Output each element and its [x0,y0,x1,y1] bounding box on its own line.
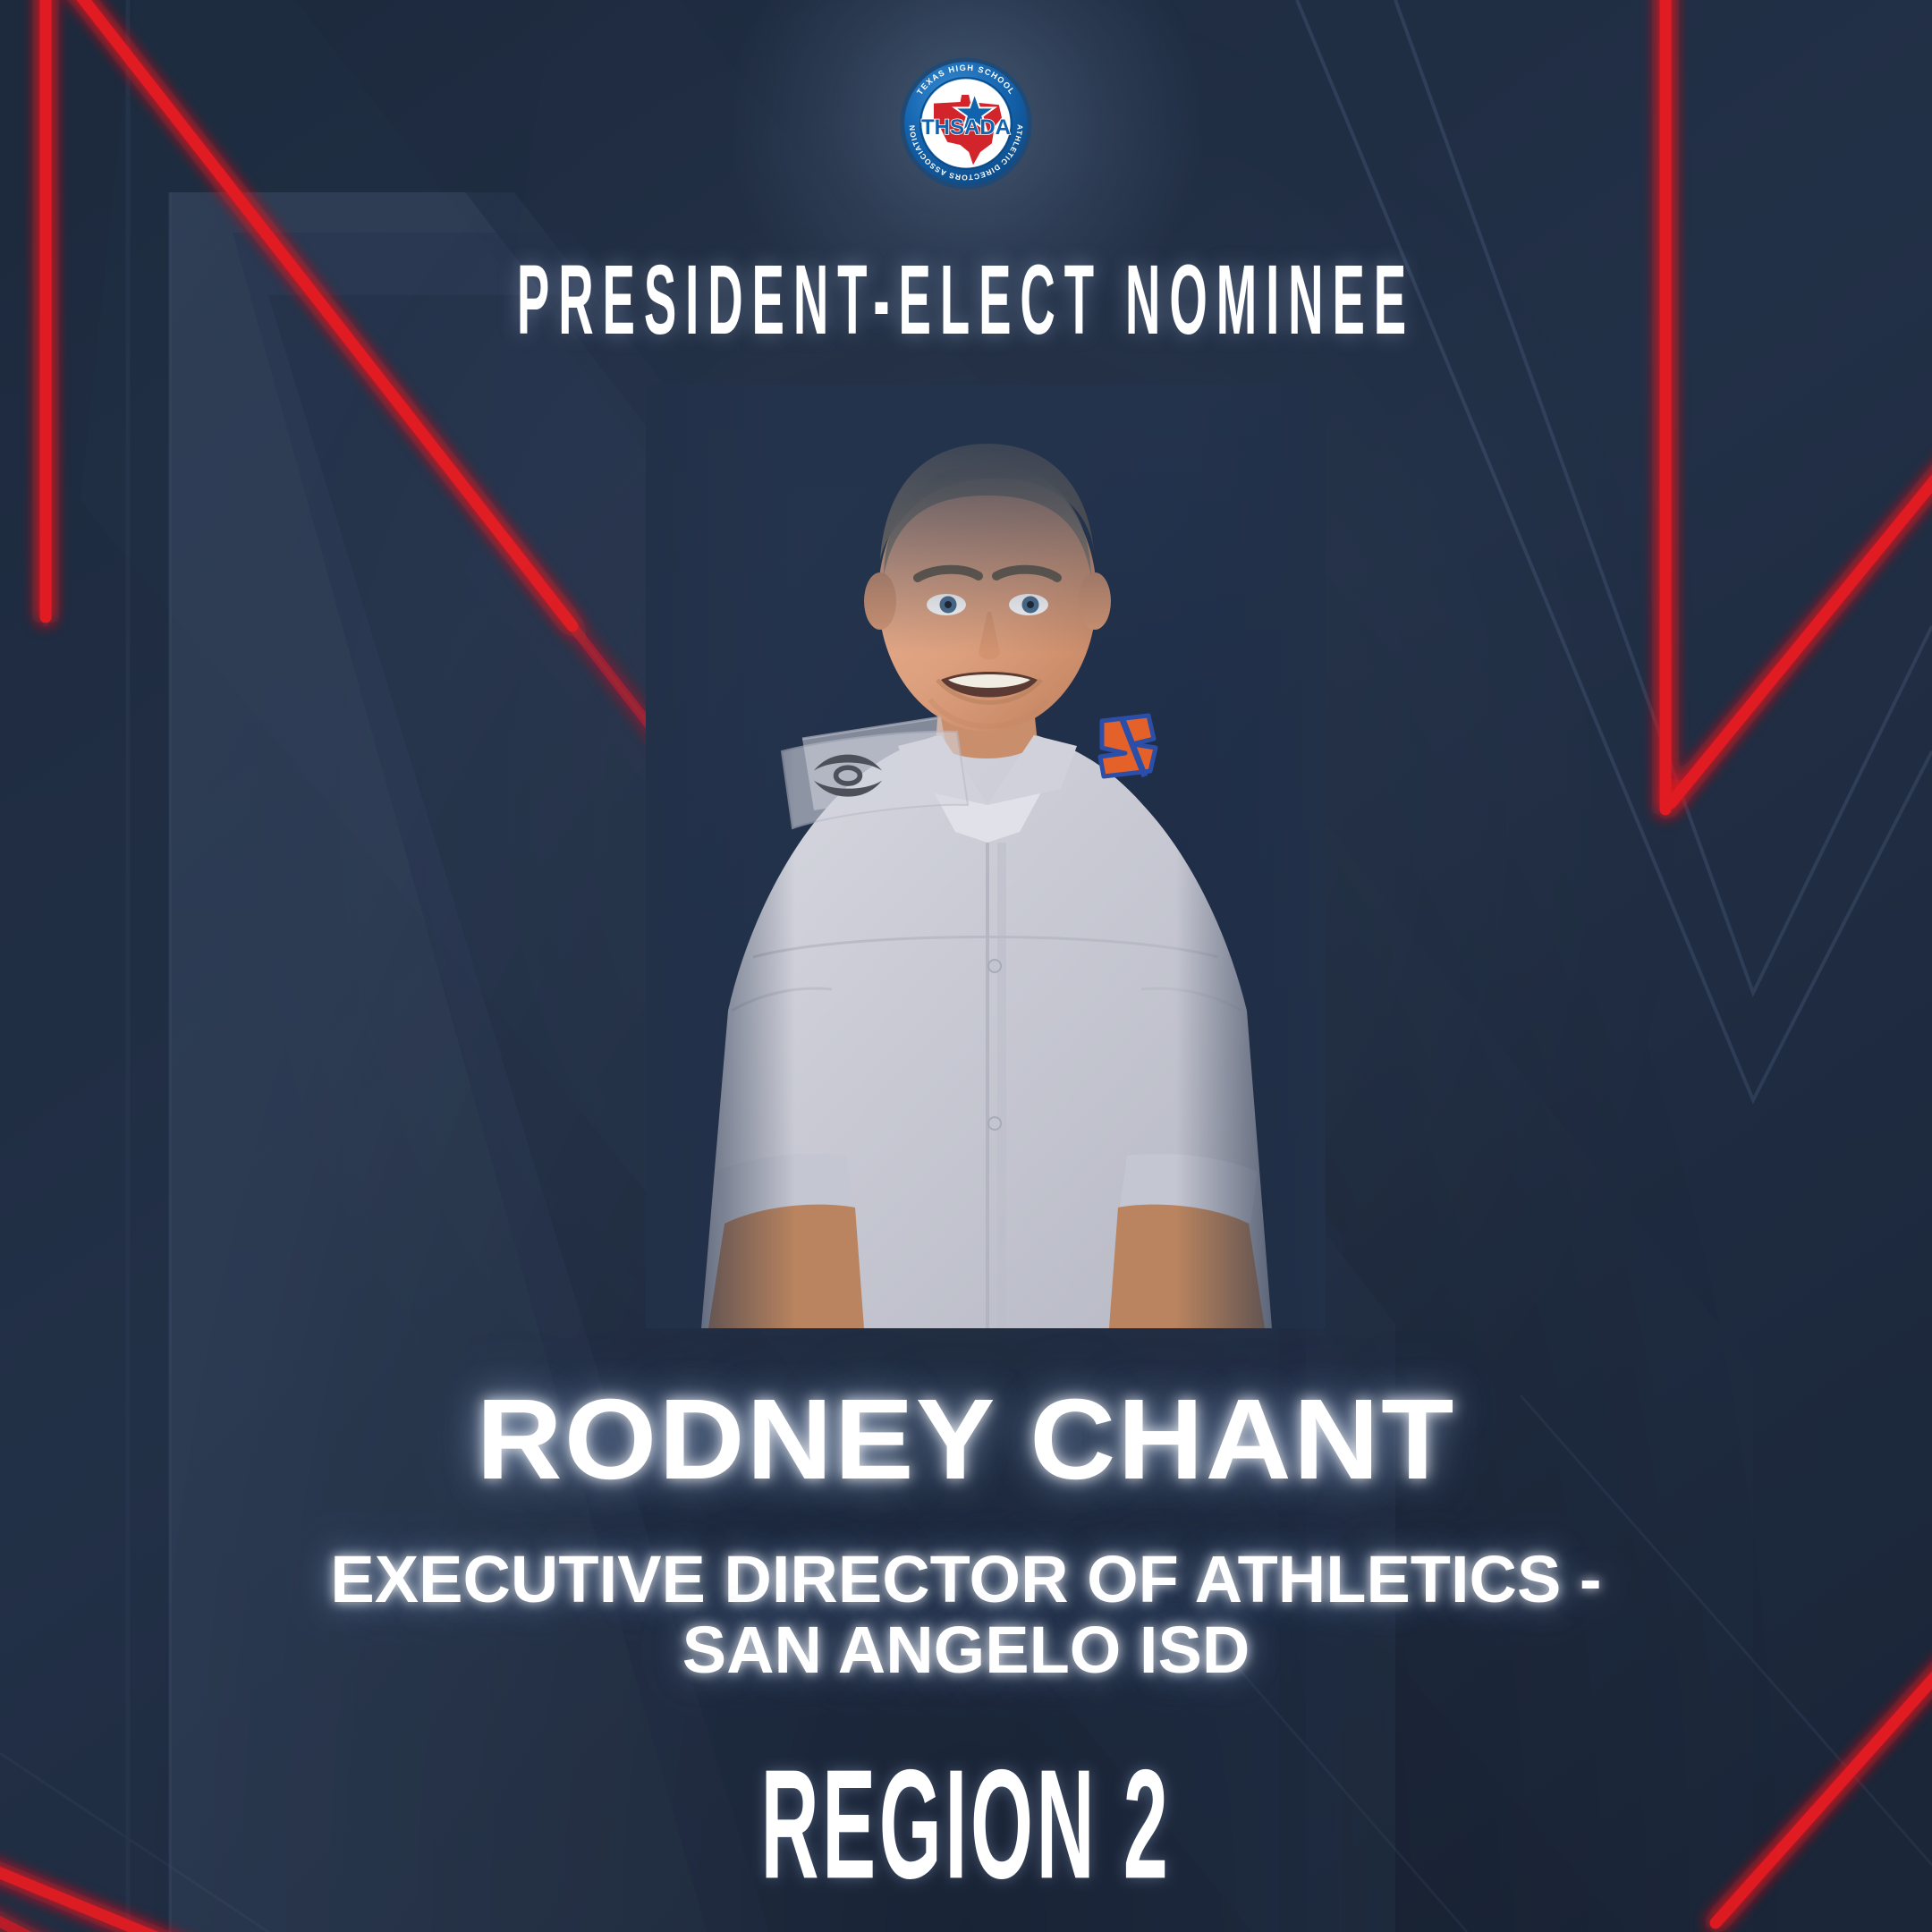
thsada-badge-icon: THSADA TEXAS HIGH SCHOOL ATHLETIC DIRECT… [894,52,1038,195]
logo-acronym: THSADA [921,115,1011,140]
nominee-card: THSADA TEXAS HIGH SCHOOL ATHLETIC DIRECT… [0,0,1932,1932]
nominee-portrait [646,385,1326,1328]
nominee-role-line2: SAN ANGELO ISD [0,1614,1932,1685]
nominee-role-line1: EXECUTIVE DIRECTOR OF ATHLETICS - [330,1542,1601,1616]
nominee-name: RODNEY CHANT [0,1383,1932,1497]
thsada-logo: THSADA TEXAS HIGH SCHOOL ATHLETIC DIRECT… [894,52,1038,195]
nominee-region: REGION 2 [386,1746,1546,1902]
nominee-role: EXECUTIVE DIRECTOR OF ATHLETICS - SAN AN… [0,1544,1932,1685]
headshot-photo-icon [646,385,1326,1328]
page-title: PRESIDENT-ELECT NOMINEE [367,250,1564,350]
